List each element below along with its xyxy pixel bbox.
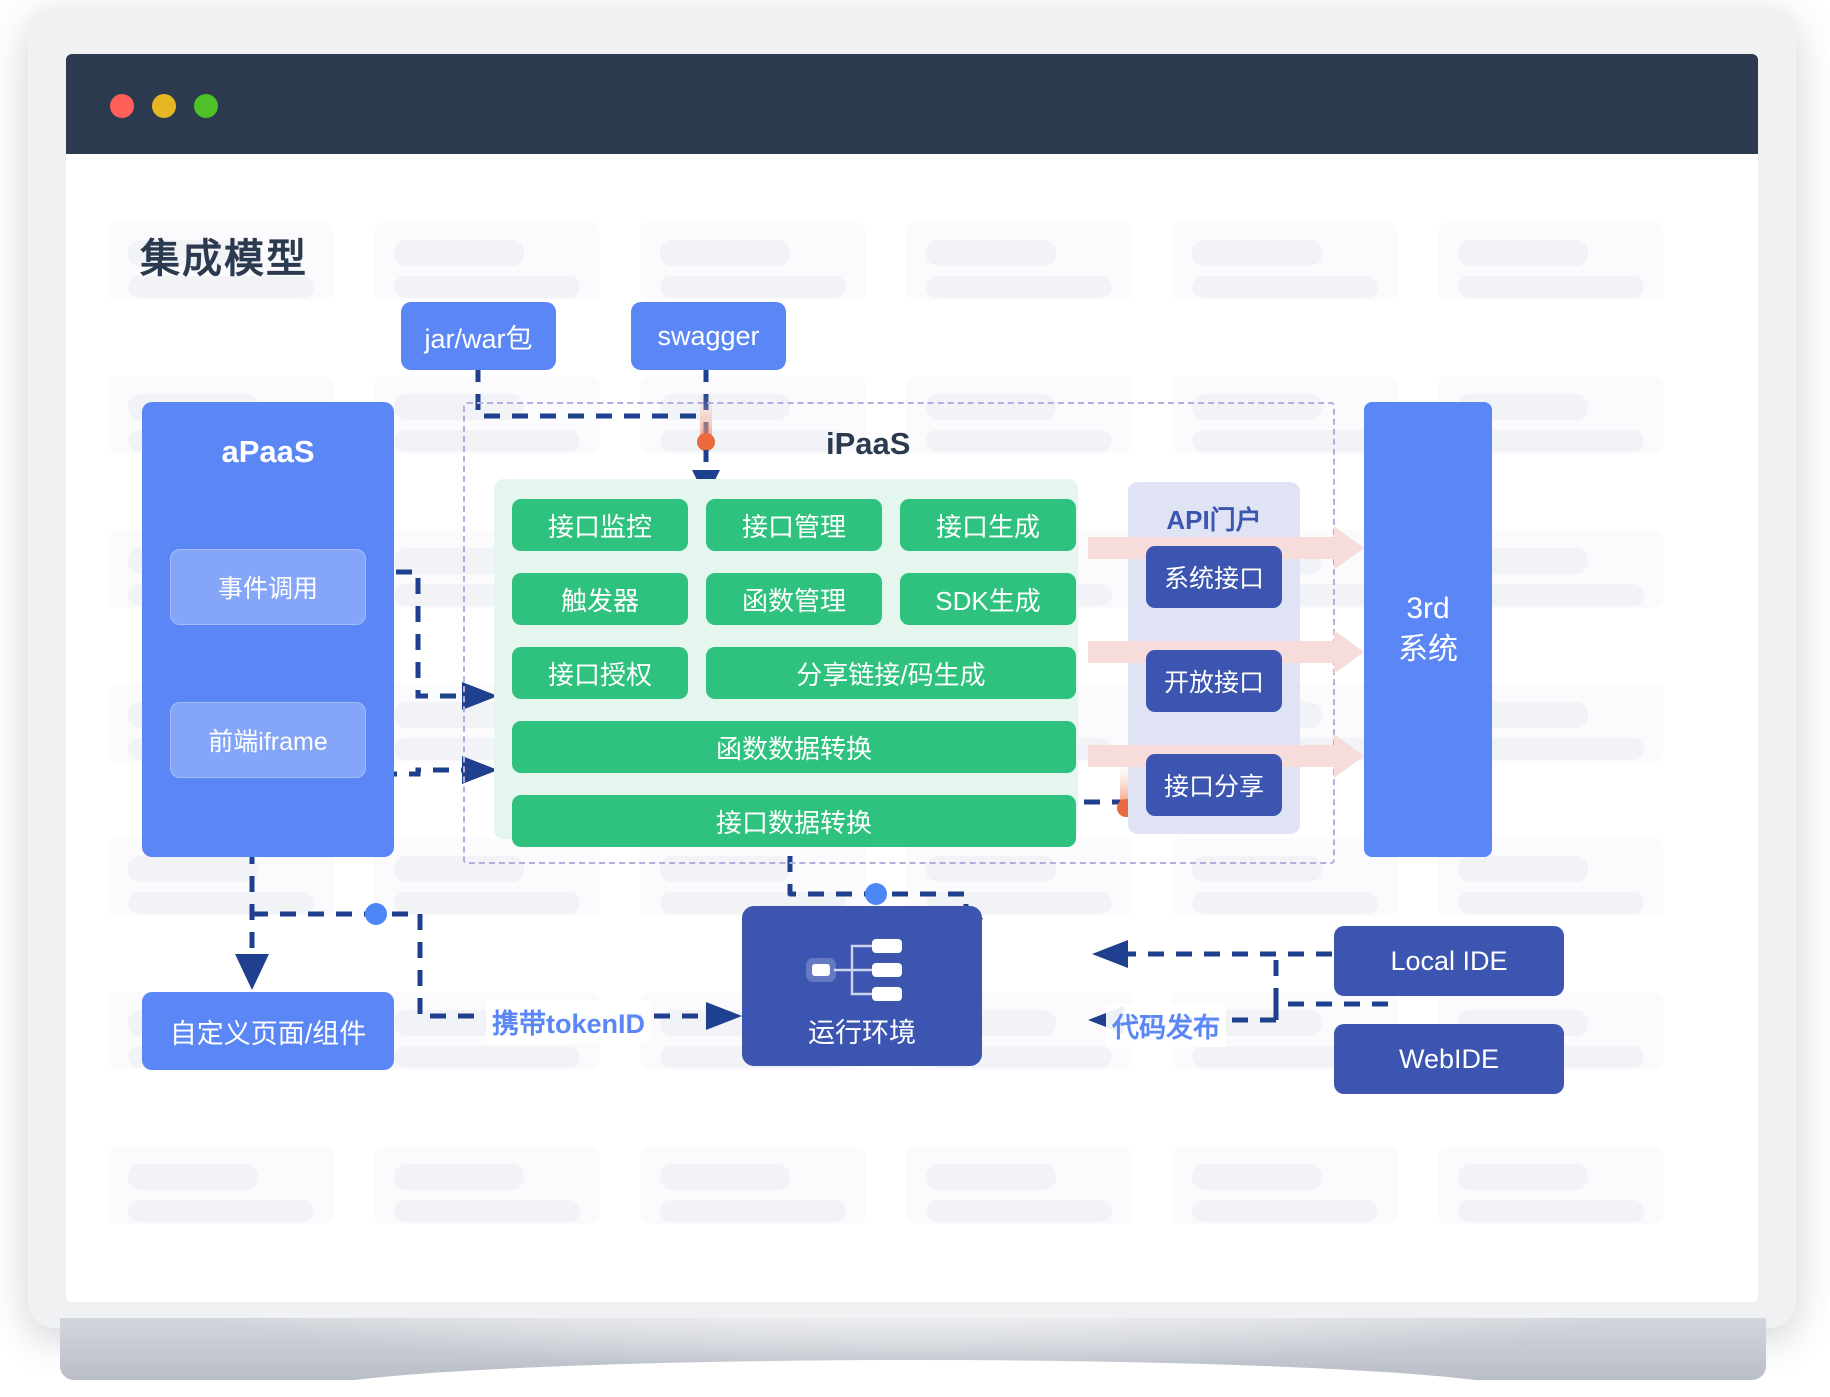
close-icon[interactable] xyxy=(110,94,134,118)
api-portal-item-label: 系统接口 xyxy=(1164,559,1264,595)
capability-share-link-code[interactable]: 分享链接/码生成 xyxy=(706,647,1076,699)
ipaas-capability-panel: 接口监控 接口管理 接口生成 触发器 函数管理 SDK生成 xyxy=(494,479,1078,839)
ipaas-title: iPaaS xyxy=(826,426,910,462)
custom-page-label: 自定义页面/组件 xyxy=(170,1012,367,1051)
browser-titlebar xyxy=(66,54,1758,154)
maximize-icon[interactable] xyxy=(194,94,218,118)
ide-label: WebIDE xyxy=(1399,1044,1499,1075)
capability-label: 接口数据转换 xyxy=(716,803,872,840)
browser-window: 集成模型 xyxy=(66,54,1758,1302)
capability-label: 接口监控 xyxy=(548,507,652,544)
api-portal-item-interface-share[interactable]: 接口分享 xyxy=(1146,754,1282,816)
capability-label: 分享链接/码生成 xyxy=(796,655,985,692)
capability-label: 函数管理 xyxy=(742,581,846,618)
integration-model-diagram: 集成模型 xyxy=(66,154,1758,1302)
node-tree-icon xyxy=(804,934,920,1006)
source-box-jar-war[interactable]: jar/war包 xyxy=(401,302,556,370)
capability-label: 接口管理 xyxy=(742,507,846,544)
apaas-panel[interactable]: aPaaS 事件调用 前端iframe xyxy=(142,402,394,857)
api-portal-item-label: 开放接口 xyxy=(1164,663,1264,699)
capability-interface-data-transform[interactable]: 接口数据转换 xyxy=(512,795,1076,847)
capability-function-manage[interactable]: 函数管理 xyxy=(706,573,882,625)
custom-page-component-box[interactable]: 自定义页面/组件 xyxy=(142,992,394,1070)
ide-label: Local IDE xyxy=(1390,946,1507,977)
apaas-item-frontend-iframe[interactable]: 前端iframe xyxy=(170,702,366,778)
page-title: 集成模型 xyxy=(140,226,308,284)
source-label: swagger xyxy=(657,321,759,352)
capability-sdk-generate[interactable]: SDK生成 xyxy=(900,573,1076,625)
api-portal-item-open-interface[interactable]: 开放接口 xyxy=(1146,650,1282,712)
local-ide-box[interactable]: Local IDE xyxy=(1334,926,1564,996)
source-box-swagger[interactable]: swagger xyxy=(631,302,786,370)
edge-label-carry-tokenid: 携带tokenID xyxy=(486,1000,651,1043)
runtime-environment-box[interactable]: 运行环境 xyxy=(742,906,982,1066)
source-label: jar/war包 xyxy=(424,317,532,356)
third-party-line1: 3rd xyxy=(1406,589,1449,630)
capability-label: SDK生成 xyxy=(935,581,1040,618)
capability-interface-generate[interactable]: 接口生成 xyxy=(900,499,1076,551)
capability-label: 触发器 xyxy=(561,581,639,618)
apaas-title: aPaaS xyxy=(142,434,394,470)
apaas-item-label: 前端iframe xyxy=(208,722,327,758)
apaas-item-event-invoke[interactable]: 事件调用 xyxy=(170,549,366,625)
capability-interface-manage[interactable]: 接口管理 xyxy=(706,499,882,551)
webide-box[interactable]: WebIDE xyxy=(1334,1024,1564,1094)
apaas-item-label: 事件调用 xyxy=(218,569,318,605)
capability-label: 接口生成 xyxy=(936,507,1040,544)
capability-function-data-transform[interactable]: 函数数据转换 xyxy=(512,721,1076,773)
api-portal-item-label: 接口分享 xyxy=(1164,767,1264,803)
third-party-line2: 系统 xyxy=(1398,630,1458,671)
capability-label: 函数数据转换 xyxy=(716,729,872,766)
device-frame: 集成模型 xyxy=(28,8,1796,1328)
capability-trigger[interactable]: 触发器 xyxy=(512,573,688,625)
runtime-environment-label: 运行环境 xyxy=(742,1011,982,1050)
edge-label-code-publish: 代码发布 xyxy=(1106,1004,1226,1047)
minimize-icon[interactable] xyxy=(152,94,176,118)
capability-interface-auth[interactable]: 接口授权 xyxy=(512,647,688,699)
api-portal-item-system-interface[interactable]: 系统接口 xyxy=(1146,546,1282,608)
capability-label: 接口授权 xyxy=(548,655,652,692)
third-party-system[interactable]: 3rd 系统 xyxy=(1364,402,1492,857)
capability-interface-monitor[interactable]: 接口监控 xyxy=(512,499,688,551)
